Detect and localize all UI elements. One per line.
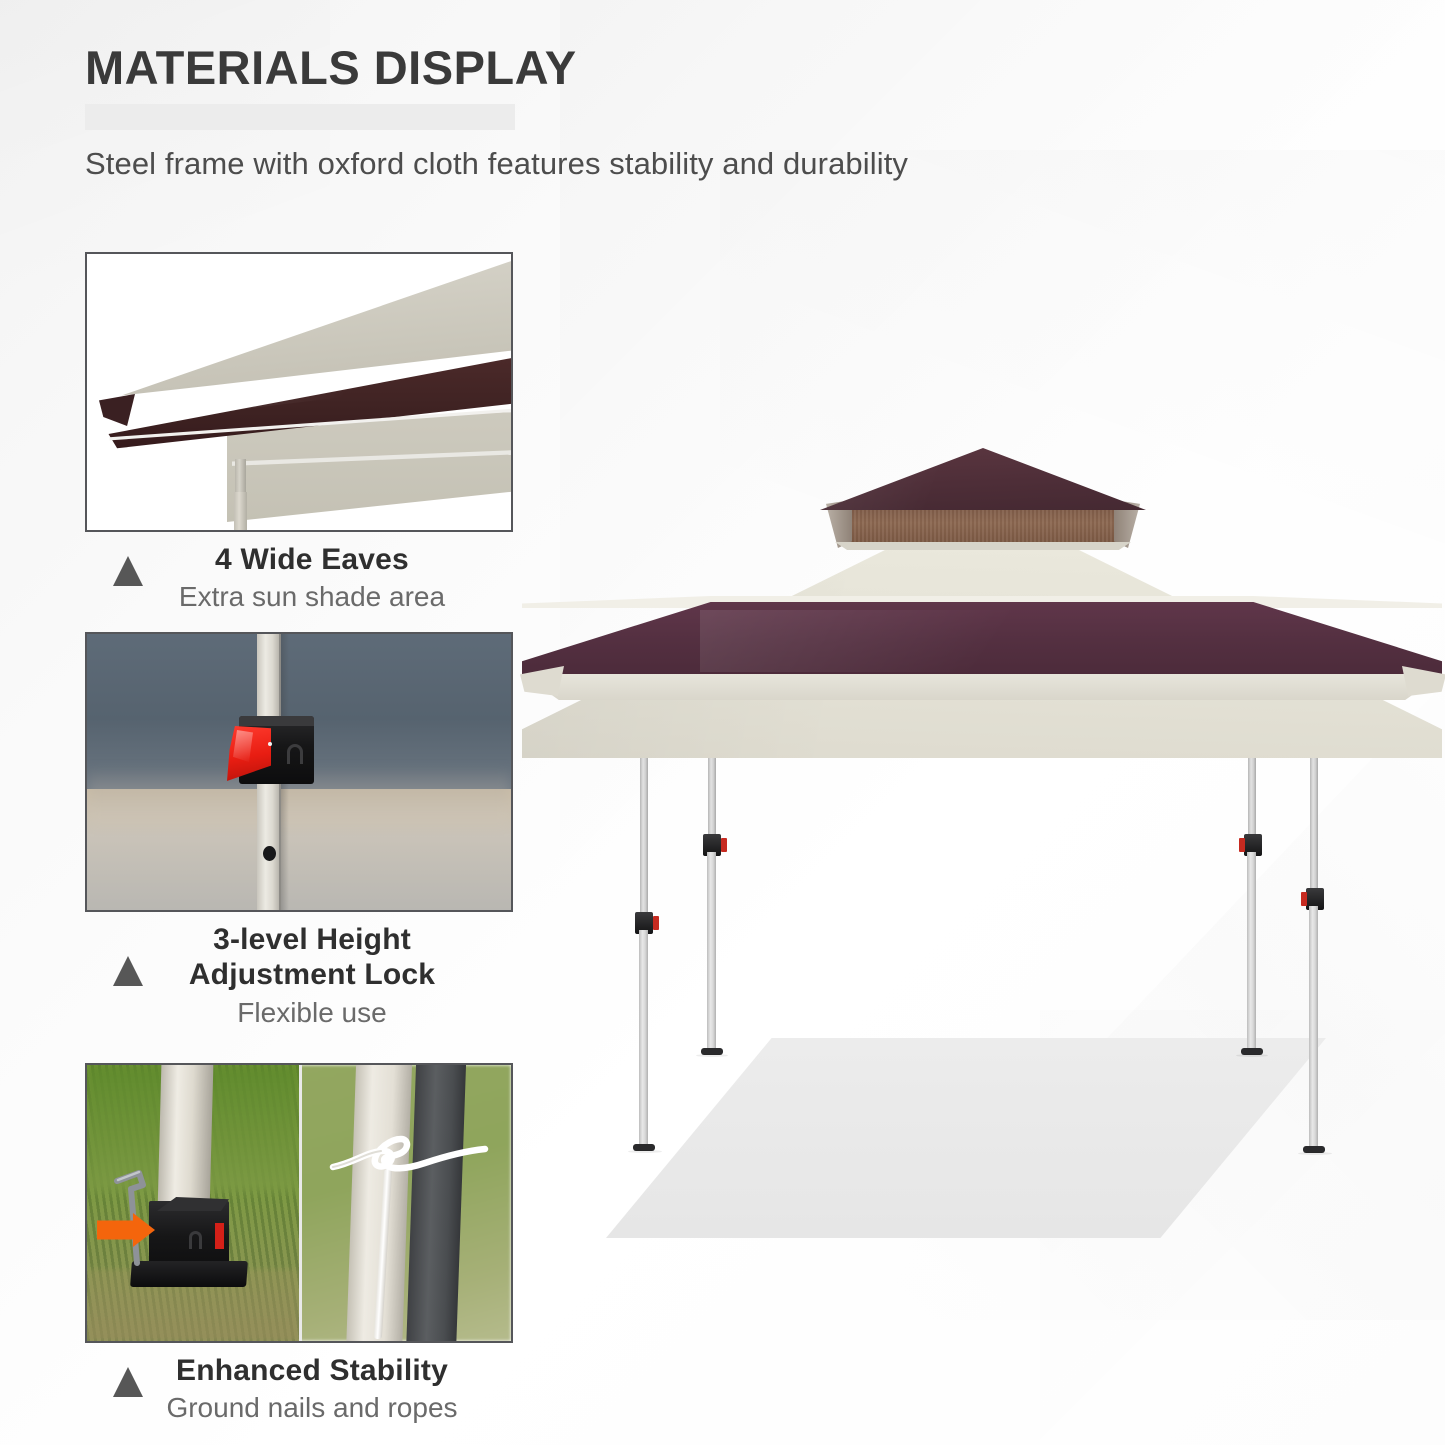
leg-ground-shadow	[696, 1054, 728, 1057]
canopy-roof-underside	[522, 674, 1442, 700]
caption-stability: Enhanced Stability Ground nails and rope…	[85, 1353, 513, 1425]
lock-indicator-dot	[268, 742, 272, 746]
canopy-leg-lower	[234, 492, 247, 532]
canopy-vent-base-trim	[832, 542, 1134, 550]
caption-title-line1: 3-level Height	[111, 922, 513, 957]
feature-photo-wide-eaves	[85, 252, 513, 532]
photo-right-half-rope-tie	[299, 1065, 511, 1341]
caption-text: Enhanced Stability Ground nails and rope…	[85, 1353, 513, 1425]
feature-height-lock: 3-level Height Adjustment Lock Flexible …	[85, 632, 513, 1029]
feature-stability: Enhanced Stability Ground nails and rope…	[85, 1063, 513, 1425]
leg-lock-red-front-right	[1239, 838, 1245, 852]
lock-icon	[189, 1231, 202, 1249]
page-title: MATERIALS DISPLAY	[85, 44, 577, 91]
gazebo-leg-post-dark	[406, 1065, 466, 1341]
triangle-up-icon	[113, 1367, 143, 1397]
caption-subtitle: Ground nails and ropes	[111, 1391, 513, 1425]
lock-icon	[287, 744, 303, 764]
photo-left-half-ground-stake	[87, 1065, 299, 1341]
leg-adjustment-hole	[263, 846, 276, 861]
feature-photo-height-lock	[85, 632, 513, 912]
leg-lock-red-back-left	[653, 916, 659, 930]
page-title-wrap: MATERIALS DISPLAY	[85, 44, 577, 91]
leg-ground-shadow	[1298, 1152, 1332, 1155]
leg-front-right-lower	[1247, 852, 1256, 1052]
photo-split-divider	[299, 1065, 302, 1341]
leg-lock-red-front-left	[721, 838, 727, 852]
caption-wide-eaves: 4 Wide Eaves Extra sun shade area	[85, 542, 513, 614]
leg-back-right-lower	[1309, 906, 1318, 1150]
caption-text: 4 Wide Eaves Extra sun shade area	[85, 542, 513, 614]
floor-shadow	[606, 1038, 1326, 1238]
rope-knot-icon	[329, 1133, 489, 1183]
triangle-up-icon	[113, 556, 143, 586]
leg-front-left-lower	[707, 852, 716, 1052]
height-lock-housing-top	[239, 716, 314, 726]
canopy-vent-band-texture	[838, 504, 1128, 546]
leg-lock-red-back-right	[1301, 892, 1307, 906]
leg-back-left-lower	[639, 930, 648, 1148]
infographic-page: MATERIALS DISPLAY Steel frame with oxfor…	[0, 0, 1445, 1445]
caption-height-lock: 3-level Height Adjustment Lock Flexible …	[85, 922, 513, 1029]
feature-wide-eaves: 4 Wide Eaves Extra sun shade area	[85, 252, 513, 614]
canopy-top-vent-highlight	[820, 448, 983, 510]
red-lock-lever	[215, 1223, 224, 1249]
title-highlight-bar	[85, 104, 515, 130]
feature-photo-stability	[85, 1063, 513, 1343]
product-image-gazebo	[520, 430, 1445, 1220]
caption-subtitle: Flexible use	[111, 996, 513, 1030]
caption-title: 4 Wide Eaves	[111, 542, 513, 577]
caption-title: Enhanced Stability	[111, 1353, 513, 1388]
leg-ground-shadow	[628, 1150, 662, 1153]
caption-text: 3-level Height Adjustment Lock Flexible …	[85, 922, 513, 1029]
page-subtitle: Steel frame with oxford cloth features s…	[85, 146, 908, 182]
caption-subtitle: Extra sun shade area	[111, 580, 513, 614]
caption-title-line2: Adjustment Lock	[111, 957, 513, 992]
leg-ground-shadow	[1236, 1054, 1268, 1057]
canopy-stripe-highlight	[700, 610, 1100, 672]
triangle-up-icon	[113, 956, 143, 986]
